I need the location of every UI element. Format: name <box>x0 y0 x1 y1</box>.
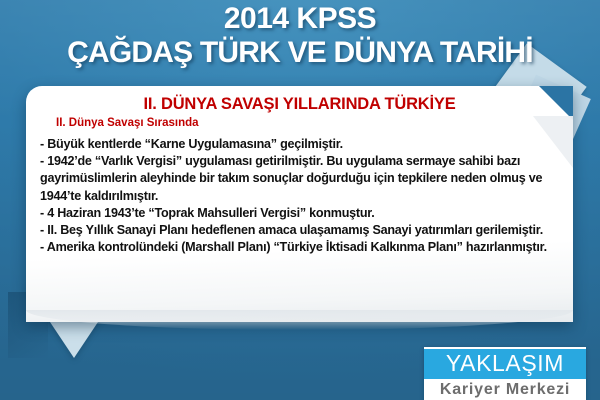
card-heading-sub: II. Dünya Savaşı Sırasında <box>56 116 561 131</box>
logo-brand-text: YAKLAŞIM <box>446 350 564 376</box>
slide-canvas: 2014 KPSS ÇAĞDAŞ TÜRK VE DÜNYA TARİHİ II… <box>0 0 600 400</box>
bullet-item: - Büyük kentlerde “Karne Uygulamasına” g… <box>40 136 559 153</box>
bullet-item: - II. Beş Yıllık Sanayi Planı hedeflenen… <box>40 222 559 239</box>
brand-logo: YAKLAŞIM Kariyer Merkezi <box>424 347 586 400</box>
logo-brand-band: YAKLAŞIM <box>424 349 586 379</box>
card-heading-main: II. DÜNYA SAVAŞI YILLARINDA TÜRKİYE <box>38 94 561 114</box>
logo-tagline-text: Kariyer Merkezi <box>440 381 570 398</box>
slide-title-block: 2014 KPSS ÇAĞDAŞ TÜRK VE DÜNYA TARİHİ <box>0 2 600 70</box>
bullet-item: - 1942’de “Varlık Vergisi” uygulaması ge… <box>40 153 559 205</box>
bullet-item: - Amerika kontrolündeki (Marshall Planı)… <box>40 239 559 256</box>
title-line-exam: 2014 KPSS <box>0 2 600 36</box>
logo-tagline-band: Kariyer Merkezi <box>424 379 586 400</box>
card-body-text: - Büyük kentlerde “Karne Uygulamasına” g… <box>40 136 559 256</box>
title-line-subject: ÇAĞDAŞ TÜRK VE DÜNYA TARİHİ <box>0 36 600 70</box>
content-card-inner: II. DÜNYA SAVAŞI YILLARINDA TÜRKİYE II. … <box>26 86 573 256</box>
content-card: II. DÜNYA SAVAŞI YILLARINDA TÜRKİYE II. … <box>26 86 573 322</box>
bullet-item: - 4 Haziran 1943’te “Toprak Mahsulleri V… <box>40 205 559 222</box>
